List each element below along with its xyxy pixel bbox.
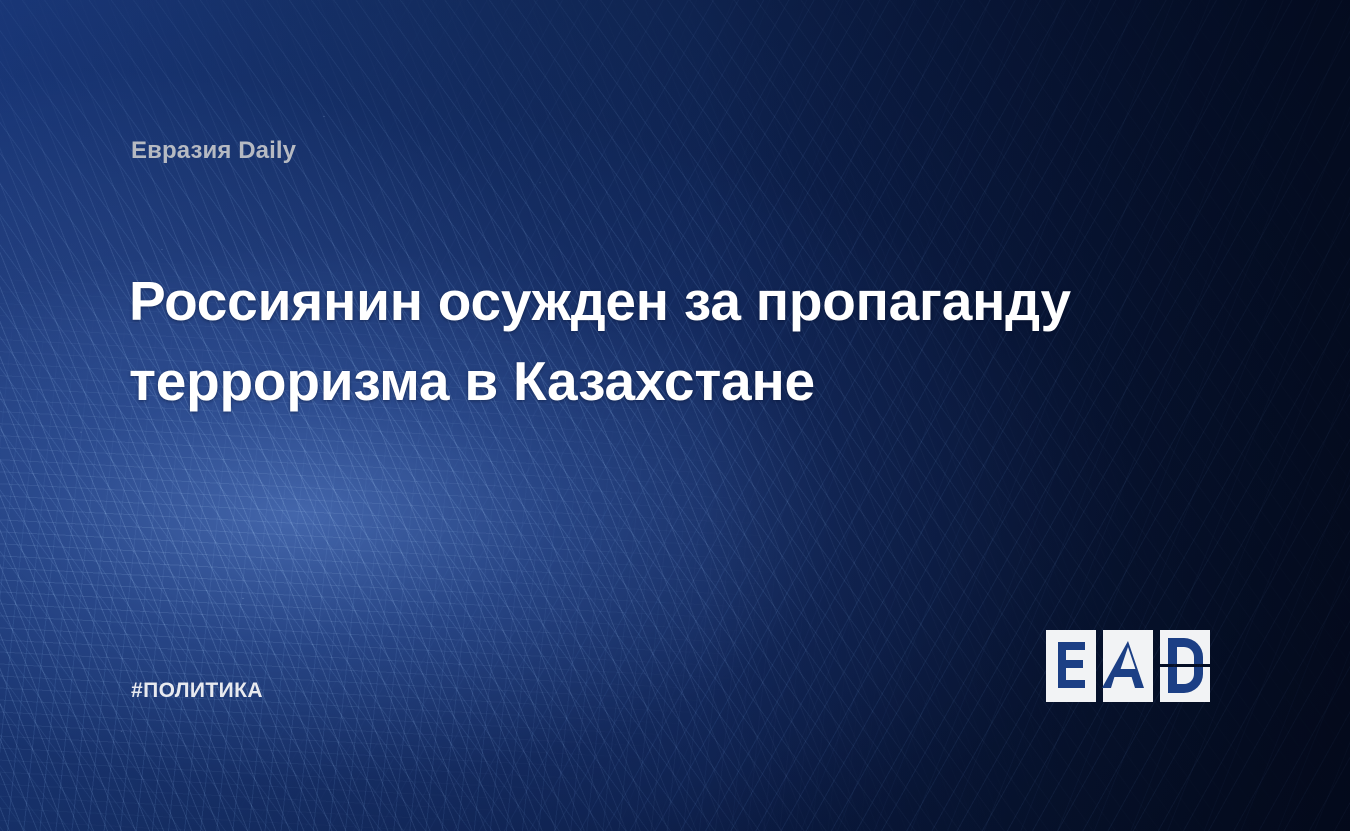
logo-tile-e xyxy=(1046,630,1096,702)
eadaily-logo[interactable] xyxy=(1046,630,1222,702)
category-tag[interactable]: #ПОЛИТИКА xyxy=(131,679,263,703)
source-name: Евразия Daily xyxy=(131,137,296,165)
page-title: Россиянин осужден за пропаганду террориз… xyxy=(129,261,1114,421)
news-card: Евразия Daily Россиянин осужден за пропа… xyxy=(0,0,1350,831)
card-content: Евразия Daily Россиянин осужден за пропа… xyxy=(0,0,1350,831)
logo-tile-a xyxy=(1102,630,1153,702)
logo-tile-d-bottom xyxy=(1160,667,1210,702)
logo-tile-d-top xyxy=(1160,630,1210,664)
